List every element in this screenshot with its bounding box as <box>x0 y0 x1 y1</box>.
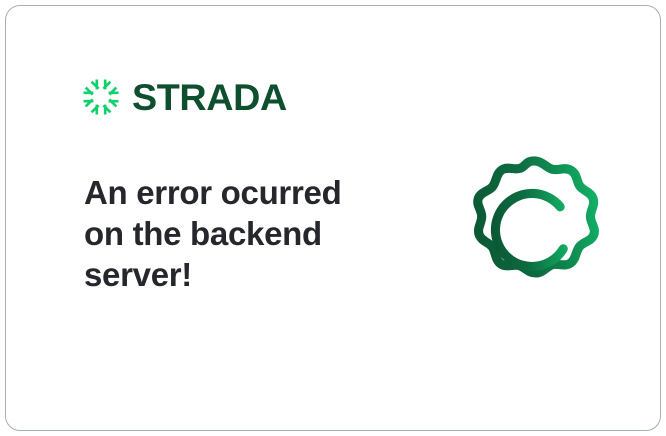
error-heading: An error ocurred on the backend server! <box>84 172 384 295</box>
error-screen: STRADA An error ocurred on the backend s… <box>0 0 666 436</box>
brand-lockup: STRADA <box>82 74 284 120</box>
brand-wordmark: STRADA <box>132 79 287 116</box>
gear-cog-icon <box>451 144 617 314</box>
strada-asterisk-icon <box>82 78 120 116</box>
error-card: STRADA An error ocurred on the backend s… <box>5 5 661 431</box>
